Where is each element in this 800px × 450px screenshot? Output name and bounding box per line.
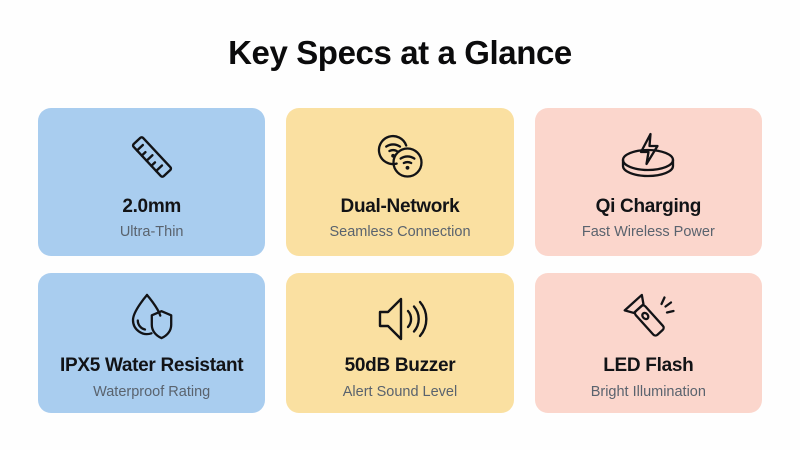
- spec-card-title: Dual-Network: [341, 196, 460, 218]
- spec-card-dual-network[interactable]: Dual-Network Seamless Connection: [286, 108, 513, 256]
- spec-card-subtitle: Waterproof Rating: [93, 384, 210, 401]
- spec-card-subtitle: Alert Sound Level: [343, 384, 457, 401]
- flashlight-icon: [618, 285, 678, 353]
- speaker-sound-icon: [370, 285, 430, 353]
- wireless-charging-pad-icon: [617, 120, 679, 194]
- spec-card-title: Qi Charging: [596, 196, 701, 218]
- spec-card-water-resistant[interactable]: IPX5 Water Resistant Waterproof Rating: [38, 273, 265, 413]
- page-title: Key Specs at a Glance: [0, 34, 800, 72]
- specs-grid: 2.0mm Ultra-Thin Dual-Network: [38, 108, 762, 413]
- spec-card-subtitle: Seamless Connection: [329, 224, 470, 241]
- spec-card-subtitle: Ultra-Thin: [120, 224, 184, 241]
- dual-wifi-icon: [370, 120, 430, 194]
- spec-card-title: 50dB Buzzer: [345, 355, 456, 377]
- spec-card-title: LED Flash: [603, 355, 693, 377]
- spec-card-title: IPX5 Water Resistant: [60, 355, 243, 377]
- ruler-icon: [124, 120, 180, 194]
- spec-card-qi-charging[interactable]: Qi Charging Fast Wireless Power: [535, 108, 762, 256]
- spec-card-subtitle: Fast Wireless Power: [582, 224, 715, 241]
- spec-card-buzzer[interactable]: 50dB Buzzer Alert Sound Level: [286, 273, 513, 413]
- spec-card-led-flash[interactable]: LED Flash Bright Illumination: [535, 273, 762, 413]
- spec-card-ultra-thin[interactable]: 2.0mm Ultra-Thin: [38, 108, 265, 256]
- slide-root: Key Specs at a Glance 2.0mm Ultra-Thin: [0, 0, 800, 450]
- spec-card-title: 2.0mm: [122, 196, 181, 218]
- spec-card-subtitle: Bright Illumination: [591, 384, 706, 401]
- water-drop-shield-icon: [123, 285, 181, 353]
